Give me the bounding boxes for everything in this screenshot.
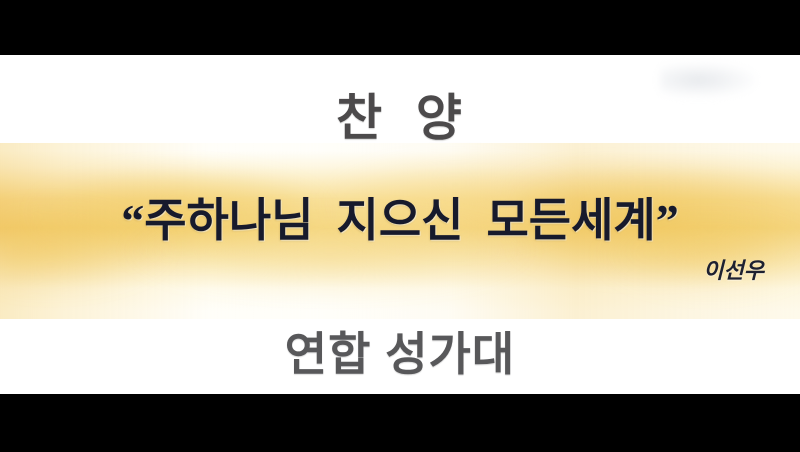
performer-name: 연합 성가대 xyxy=(0,327,800,381)
video-slide-frame: 찬 양 “주하나님 지으신 모든세계” 이선우 연합 성가대 xyxy=(0,0,800,452)
slide-canvas: 찬 양 “주하나님 지으신 모든세계” 이선우 연합 성가대 xyxy=(0,55,800,394)
slide-heading: 찬 양 xyxy=(0,89,800,147)
letterbox-bar-top xyxy=(0,0,800,55)
song-title-quote: “주하나님 지으신 모든세계” xyxy=(0,193,800,249)
composer-credit: 이선우 xyxy=(0,258,800,284)
letterbox-bar-bottom xyxy=(0,394,800,452)
